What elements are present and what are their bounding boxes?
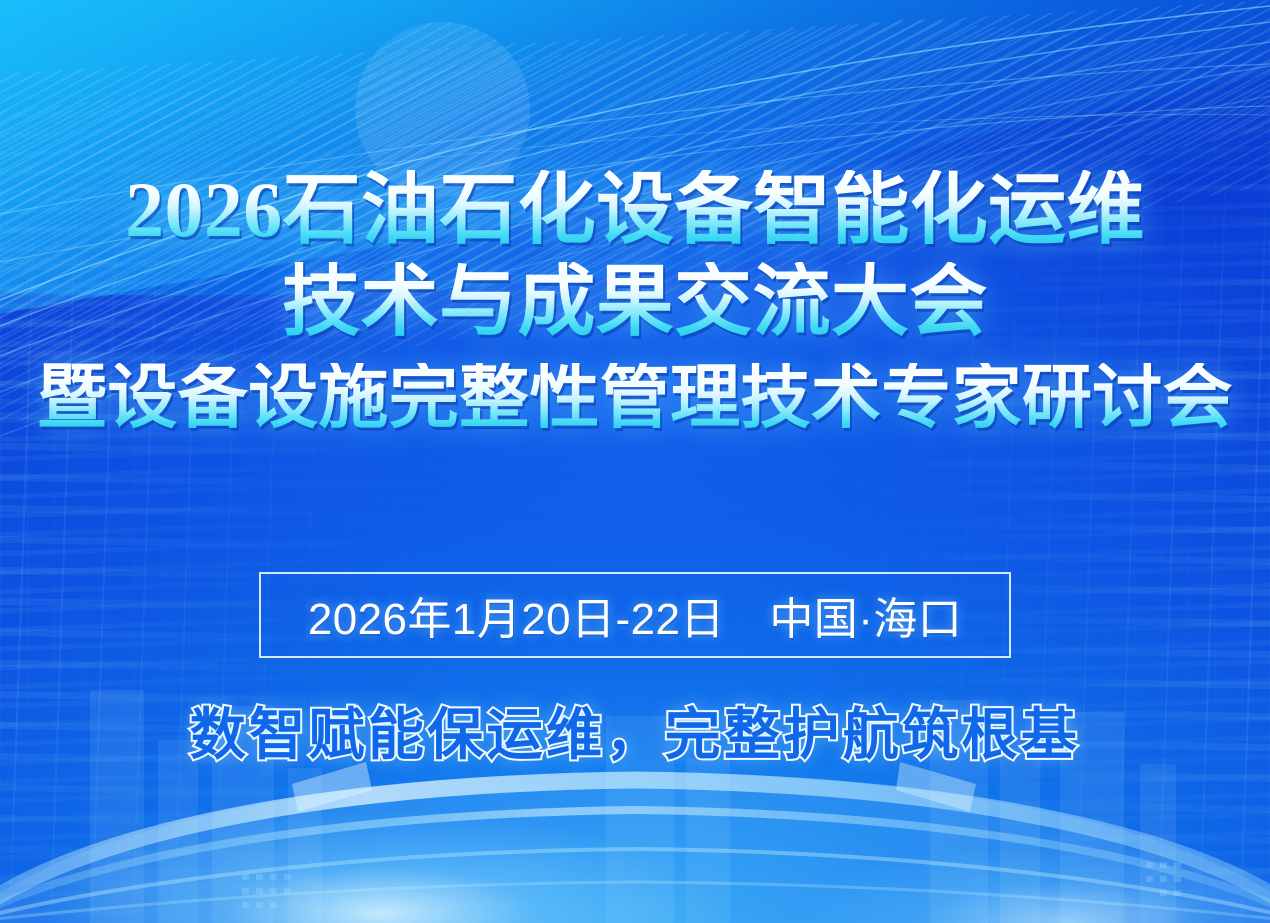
- poster-title-line-1: 2026石油石化设备智能化运维: [0, 170, 1270, 250]
- date-location-box: 2026年1月20日-22日 中国·海口: [259, 572, 1011, 658]
- date-location-text: 2026年1月20日-22日 中国·海口: [308, 583, 962, 647]
- poster-slogan: 数智赋能保运维，完整护航筑根基: [0, 690, 1270, 771]
- poster-title-line-2: 技术与成果交流大会: [0, 262, 1270, 342]
- title-block: 2026石油石化设备智能化运维 技术与成果交流大会 暨设备设施完整性管理技术专家…: [0, 170, 1270, 434]
- poster-content: 2026石油石化设备智能化运维 技术与成果交流大会 暨设备设施完整性管理技术专家…: [0, 0, 1270, 923]
- poster-subtitle-line: 暨设备设施完整性管理技术专家研讨会: [0, 363, 1270, 434]
- conference-poster: 2026石油石化设备智能化运维 技术与成果交流大会 暨设备设施完整性管理技术专家…: [0, 0, 1270, 923]
